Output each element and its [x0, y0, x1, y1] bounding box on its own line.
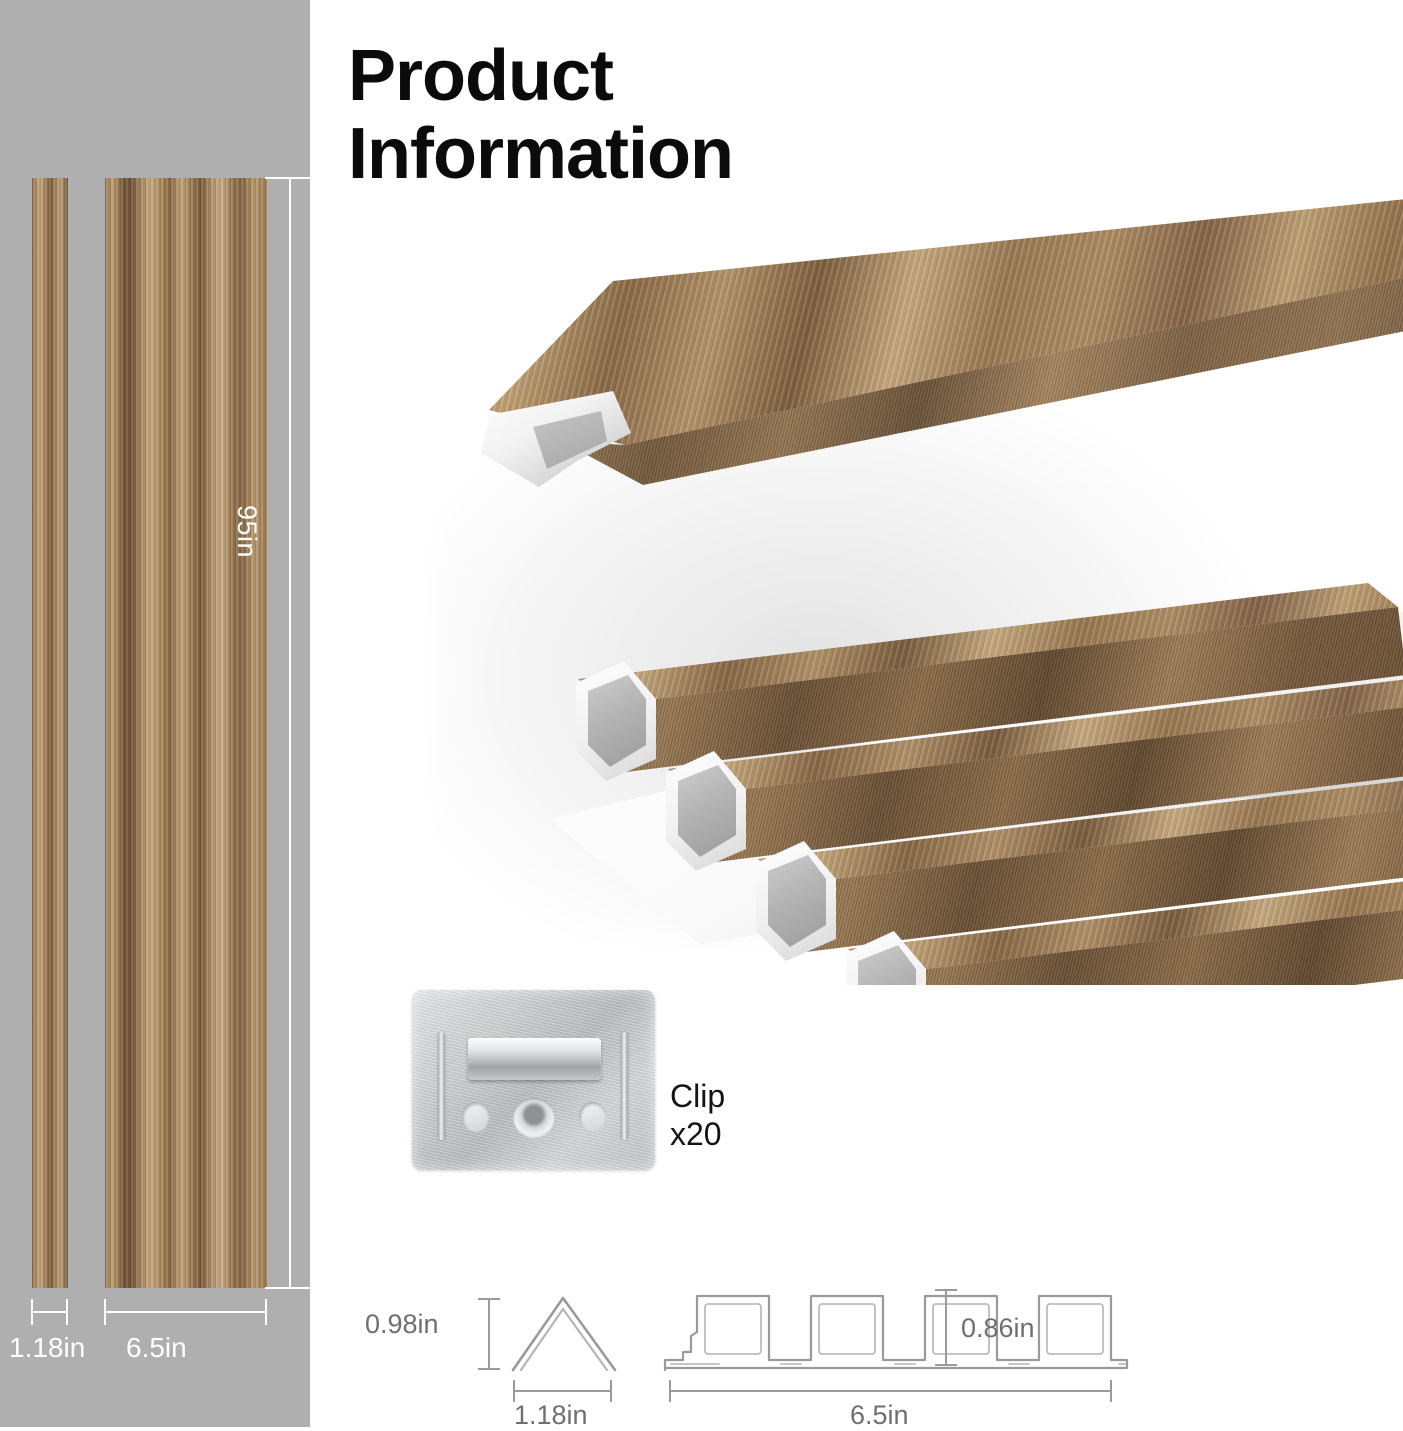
corner-trim-strip	[32, 178, 68, 1288]
page-title: Product Information	[348, 38, 908, 194]
trim-height-tick-top	[478, 1298, 500, 1300]
trim-width-tick-right	[66, 1299, 68, 1325]
panel-profile-width-tick-left	[669, 1380, 671, 1402]
slat-panel-profile	[661, 1286, 1131, 1378]
clip-bracket	[412, 990, 655, 1170]
trim-height-tick-bottom	[478, 1368, 500, 1370]
panel-height-dimension-line	[945, 1290, 947, 1366]
technical-drawings: 0.98in 1.18in 6.5in 0.86in	[355, 1272, 1095, 1422]
panel-width-dimension-label: 6.5in	[126, 1332, 187, 1364]
clip-label-name: Clip	[670, 1078, 725, 1116]
clip-group: Clip x20	[412, 990, 732, 1185]
spec-panel: 95in 1.18in 6.5in	[0, 0, 310, 1427]
trim-profile-width-line	[514, 1390, 612, 1392]
corner-trim-profile	[507, 1290, 622, 1375]
slat-panel-render	[380, 525, 1403, 985]
panel-width-tick-right	[265, 1299, 267, 1325]
panel-height-tick-bottom	[935, 1364, 957, 1366]
trim-profile-width-tick-left	[513, 1380, 515, 1402]
trim-profile-width-label: 1.18in	[514, 1400, 588, 1431]
clip-label-quantity: x20	[670, 1116, 725, 1154]
length-dimension-label: 95in	[231, 505, 262, 558]
page-title-line-2: Information	[348, 116, 908, 194]
clip-raised-tab	[468, 1038, 601, 1080]
panel-profile-width-tick-right	[1110, 1380, 1112, 1402]
page-title-line-1: Product	[348, 38, 908, 116]
product-photo	[380, 195, 1403, 985]
panel-profile-width-label: 6.5in	[850, 1400, 909, 1431]
panel-height-label: 0.86in	[961, 1313, 1035, 1344]
clip-slot-right	[579, 1102, 606, 1132]
clip-screw-hole	[513, 1098, 555, 1138]
trim-width-tick-left	[31, 1299, 33, 1325]
panel-profile-width-line	[670, 1390, 1112, 1392]
trim-height-label: 0.98in	[365, 1309, 439, 1340]
trim-width-dimension-line	[32, 1311, 68, 1313]
panel-width-dimension-line	[105, 1311, 267, 1313]
length-dimension-line	[289, 178, 291, 1288]
trim-profile-width-tick-right	[610, 1380, 612, 1402]
clip-label: Clip x20	[670, 1078, 725, 1154]
trim-height-dimension-line	[488, 1299, 490, 1370]
panel-height-tick-top	[935, 1289, 957, 1291]
clip-slot-left	[462, 1102, 489, 1132]
length-dimension-tick-top	[265, 177, 313, 179]
trim-width-dimension-label: 1.18in	[9, 1332, 85, 1364]
clip-groove-right	[621, 1032, 628, 1140]
slat-wall-panel-strip	[105, 178, 267, 1288]
panel-width-tick-left	[104, 1299, 106, 1325]
clip-groove-left	[438, 1032, 445, 1140]
length-dimension-tick-bottom	[265, 1287, 313, 1289]
